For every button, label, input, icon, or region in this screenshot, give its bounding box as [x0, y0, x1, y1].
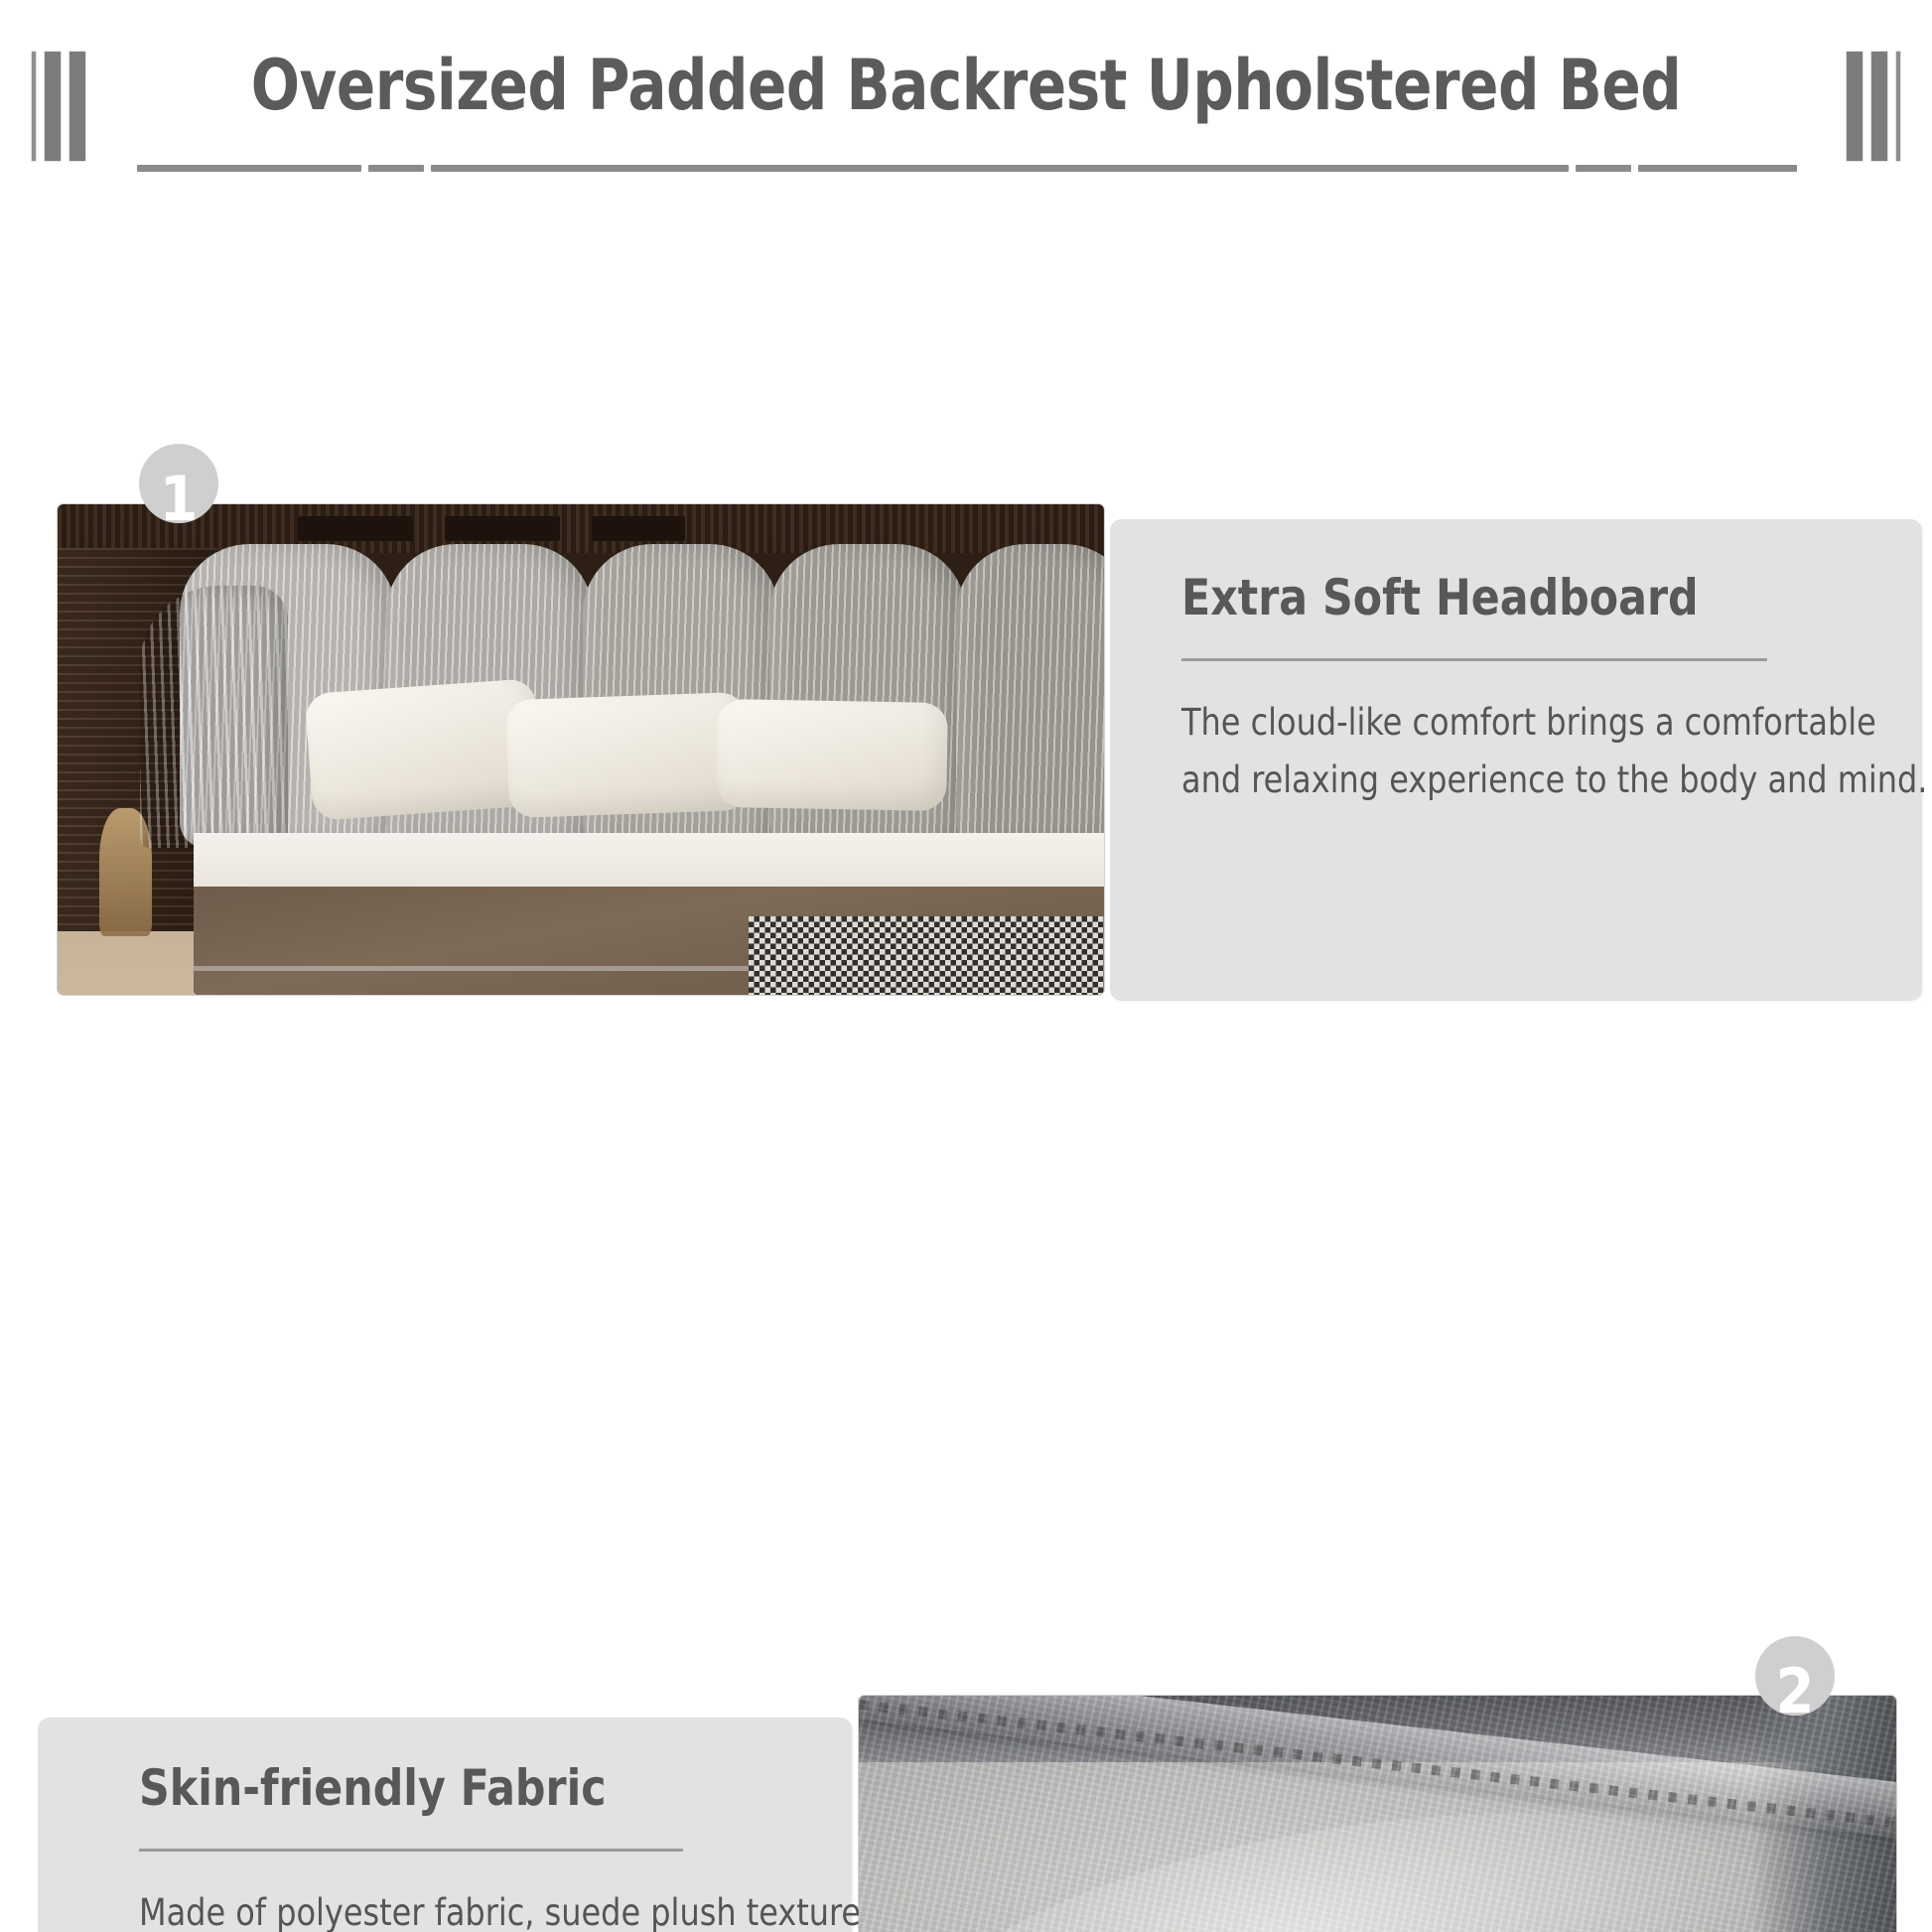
header-bar-thin-left	[32, 52, 36, 161]
feature-body-1-line-2: and relaxing experience to the body and …	[1181, 752, 1927, 809]
feature-section-3: Embedded Design Completely surrounds the…	[0, 1380, 1932, 1932]
feature-section-1: Extra Soft Headboard The cloud-like comf…	[0, 189, 1932, 844]
wall-niche	[445, 516, 560, 541]
badge-number-1-label: 1	[139, 460, 218, 539]
infographic-page: Oversized Padded Backrest Upholstered Be…	[0, 0, 1932, 1932]
title-divider-segment	[1576, 165, 1631, 172]
headboard-armrest	[140, 586, 288, 847]
title-divider-segment	[137, 165, 361, 172]
header-bar-thick-left-1	[45, 52, 61, 161]
feature-heading-1: Extra Soft Headboard	[1181, 569, 1699, 626]
header: Oversized Padded Backrest Upholstered Be…	[0, 0, 1932, 189]
page-title: Oversized Padded Backrest Upholstered Be…	[77, 38, 1855, 133]
feature-heading-divider-1	[1181, 658, 1767, 661]
title-divider-segment	[431, 165, 1569, 172]
headboard-cushion	[956, 544, 1104, 848]
wall-niche	[592, 516, 686, 541]
badge-number-1: 1	[139, 444, 218, 523]
bed-pillow	[716, 699, 948, 811]
feature-section-2: Skin-friendly Fabric Made of polyester f…	[0, 844, 1932, 1380]
title-divider-segment	[1638, 165, 1797, 172]
header-bar-thin-right	[1896, 52, 1900, 161]
title-divider-segment	[368, 165, 424, 172]
header-bar-thick-right-2	[1871, 52, 1887, 161]
bed-pillow	[505, 691, 750, 817]
wall-niche	[298, 516, 413, 541]
title-divider	[137, 165, 1797, 172]
feature-body-1: The cloud-like comfort brings a comforta…	[1181, 694, 1927, 809]
feature-body-1-line-1: The cloud-like comfort brings a comforta…	[1181, 694, 1927, 752]
